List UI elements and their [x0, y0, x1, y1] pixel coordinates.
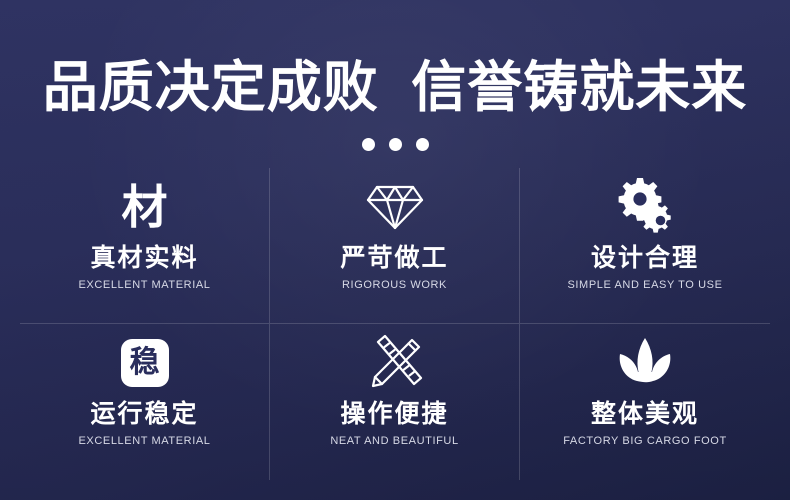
lotus-icon [616, 337, 674, 389]
feature-title-cn: 整体美观 [591, 400, 699, 428]
feature-title-cn: 操作便捷 [340, 400, 448, 428]
dot-separator [0, 138, 790, 151]
feature-icon: 稳 [121, 332, 169, 394]
feature-title-en: EXCELLENT MATERIAL [78, 279, 210, 292]
feature-title-cn: 真材实料 [90, 244, 198, 272]
feature-cell-easy-operation: 操作便捷 NEAT AND BEAUTIFUL [270, 324, 520, 480]
wen-character-badge-icon: 稳 [121, 339, 169, 387]
feature-cell-overall-beauty: 整体美观 FACTORY BIG CARGO FOOT [520, 324, 770, 480]
feature-cell-rigorous-work: 严苛做工 RIGOROUS WORK [270, 168, 520, 324]
feature-icon [365, 332, 425, 394]
feature-icon [614, 176, 676, 238]
feature-title-en: RIGOROUS WORK [342, 279, 447, 292]
feature-title-en: FACTORY BIG CARGO FOOT [563, 435, 727, 448]
feature-icon [366, 176, 424, 238]
feature-title-cn: 运行稳定 [90, 400, 198, 428]
separator-dot-icon [389, 138, 402, 151]
separator-dot-icon [416, 138, 429, 151]
promo-banner: 品质决定成败 信誉铸就未来 材 真材实料 EXCELLENT MATERIAL [0, 0, 790, 500]
feature-cell-excellent-material: 材 真材实料 EXCELLENT MATERIAL [20, 168, 270, 324]
cai-character-icon: 材 [122, 183, 168, 231]
feature-title-cn: 设计合理 [591, 244, 699, 272]
feature-title-cn: 严苛做工 [340, 244, 448, 272]
page-title: 品质决定成败 信誉铸就未来 [0, 56, 790, 118]
pencil-ruler-icon [365, 334, 425, 392]
feature-cell-simple-and-easy: 设计合理 SIMPLE AND EASY TO USE [520, 168, 770, 324]
feature-icon: 材 [122, 176, 168, 238]
diamond-icon [366, 181, 424, 233]
feature-grid: 材 真材实料 EXCELLENT MATERIAL 严苛做工 RIG [20, 168, 770, 480]
feature-title-en: EXCELLENT MATERIAL [78, 435, 210, 448]
feature-title-en: SIMPLE AND EASY TO USE [567, 279, 722, 292]
feature-title-en: NEAT AND BEAUTIFUL [330, 435, 458, 448]
feature-cell-stable-operation: 稳 运行稳定 EXCELLENT MATERIAL [20, 324, 270, 480]
feature-icon [616, 332, 674, 394]
gears-icon [614, 178, 676, 236]
separator-dot-icon [362, 138, 375, 151]
